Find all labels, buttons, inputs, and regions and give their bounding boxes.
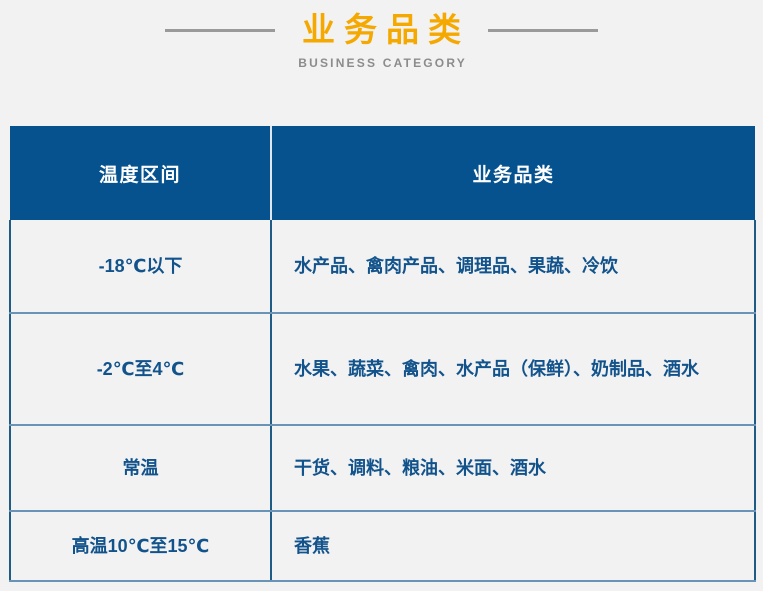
title-row: 业务品类: [0, 10, 763, 50]
page-header: 业务品类 BUSINESS CATEGORY: [0, 0, 763, 126]
cell-temperature: -2℃至4℃: [10, 313, 271, 425]
page-subtitle: BUSINESS CATEGORY: [296, 56, 467, 70]
table-row: 高温10℃至15℃ 香蕉: [10, 511, 755, 581]
cell-temperature: 常温: [10, 425, 271, 511]
business-category-table-wrapper: 温度区间 业务品类 -18℃以下 水产品、禽肉产品、调理品、果蔬、冷饮 -2℃至…: [9, 126, 754, 582]
column-header-temperature: 温度区间: [10, 126, 271, 220]
column-header-category: 业务品类: [271, 126, 755, 220]
cell-temperature: 高温10℃至15℃: [10, 511, 271, 581]
table-header-row: 温度区间 业务品类: [10, 126, 755, 220]
cell-category: 水产品、禽肉产品、调理品、果蔬、冷饮: [271, 220, 755, 313]
table-body: -18℃以下 水产品、禽肉产品、调理品、果蔬、冷饮 -2℃至4℃ 水果、蔬菜、禽…: [10, 220, 755, 581]
cell-temperature: -18℃以下: [10, 220, 271, 313]
cell-category: 干货、调料、粮油、米面、酒水: [271, 425, 755, 511]
decorative-rule-right: [488, 29, 598, 32]
table-row: -18℃以下 水产品、禽肉产品、调理品、果蔬、冷饮: [10, 220, 755, 313]
business-category-table: 温度区间 业务品类 -18℃以下 水产品、禽肉产品、调理品、果蔬、冷饮 -2℃至…: [9, 126, 756, 582]
table-head: 温度区间 业务品类: [10, 126, 755, 220]
decorative-rule-left: [165, 29, 275, 32]
table-row: -2℃至4℃ 水果、蔬菜、禽肉、水产品（保鲜）、奶制品、酒水: [10, 313, 755, 425]
cell-category: 水果、蔬菜、禽肉、水产品（保鲜）、奶制品、酒水: [271, 313, 755, 425]
table-row: 常温 干货、调料、粮油、米面、酒水: [10, 425, 755, 511]
page-title: 业务品类: [293, 10, 470, 50]
cell-category: 香蕉: [271, 511, 755, 581]
